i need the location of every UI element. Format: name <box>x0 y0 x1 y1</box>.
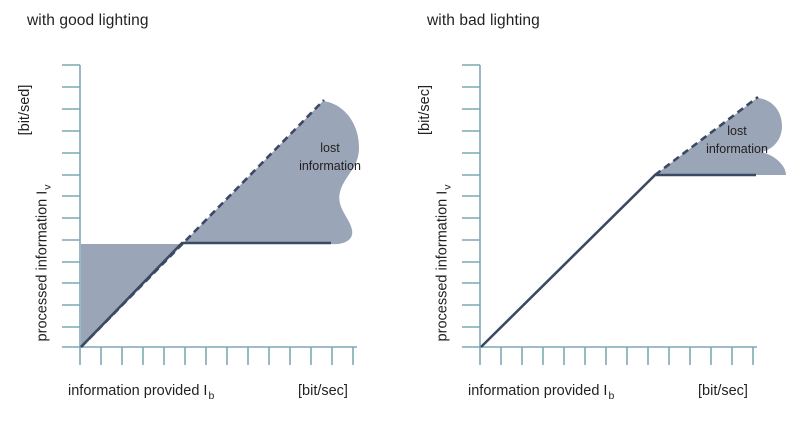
y-axis-label-subscript: v <box>441 184 453 190</box>
x-axis-label-text: information provided I <box>68 383 207 399</box>
x-axis-ticks <box>480 347 753 365</box>
y-axis-label-good-lighting: processed information Iv <box>35 61 54 341</box>
y-axis-unit-good-lighting: [bit/sed] <box>17 60 33 160</box>
plot-good-lighting: lost information <box>0 0 400 422</box>
x-axis-unit-good-lighting: [bit/sec] <box>298 383 348 399</box>
x-axis-label-bad-lighting: information provided Ib <box>468 383 614 402</box>
y-axis-ticks <box>62 65 80 327</box>
y-axis-ticks <box>462 65 480 327</box>
x-axis-ticks <box>80 347 353 365</box>
processed-information-line <box>481 175 756 347</box>
x-axis-unit-bad-lighting: [bit/sec] <box>698 383 748 399</box>
x-axis-label-subscript: b <box>207 390 214 402</box>
lost-information-region <box>655 98 786 175</box>
y-axis-label-text: processed information I <box>35 191 51 342</box>
lost-information-label-line2: information <box>299 159 361 173</box>
y-axis-unit-bad-lighting: [bit/sec] <box>417 60 433 160</box>
lost-information-region <box>81 101 359 347</box>
lost-information-label-line2: information <box>706 142 768 156</box>
figure-canvas: with good lighting <box>0 0 800 422</box>
panel-bad-lighting: with bad lighting <box>400 0 800 422</box>
lost-information-label-line1: lost <box>727 124 747 138</box>
x-axis-label-subscript: b <box>607 390 614 402</box>
x-axis-label-good-lighting: information provided Ib <box>68 383 214 402</box>
y-axis-label-bad-lighting: processed information Iv <box>435 61 454 341</box>
panel-good-lighting: with good lighting <box>0 0 400 422</box>
y-axis-label-subscript: v <box>41 184 53 190</box>
x-axis-label-text: information provided I <box>468 383 607 399</box>
lost-information-label-line1: lost <box>320 141 340 155</box>
y-axis-label-text: processed information I <box>435 191 451 342</box>
plot-bad-lighting: lost information <box>400 0 800 422</box>
